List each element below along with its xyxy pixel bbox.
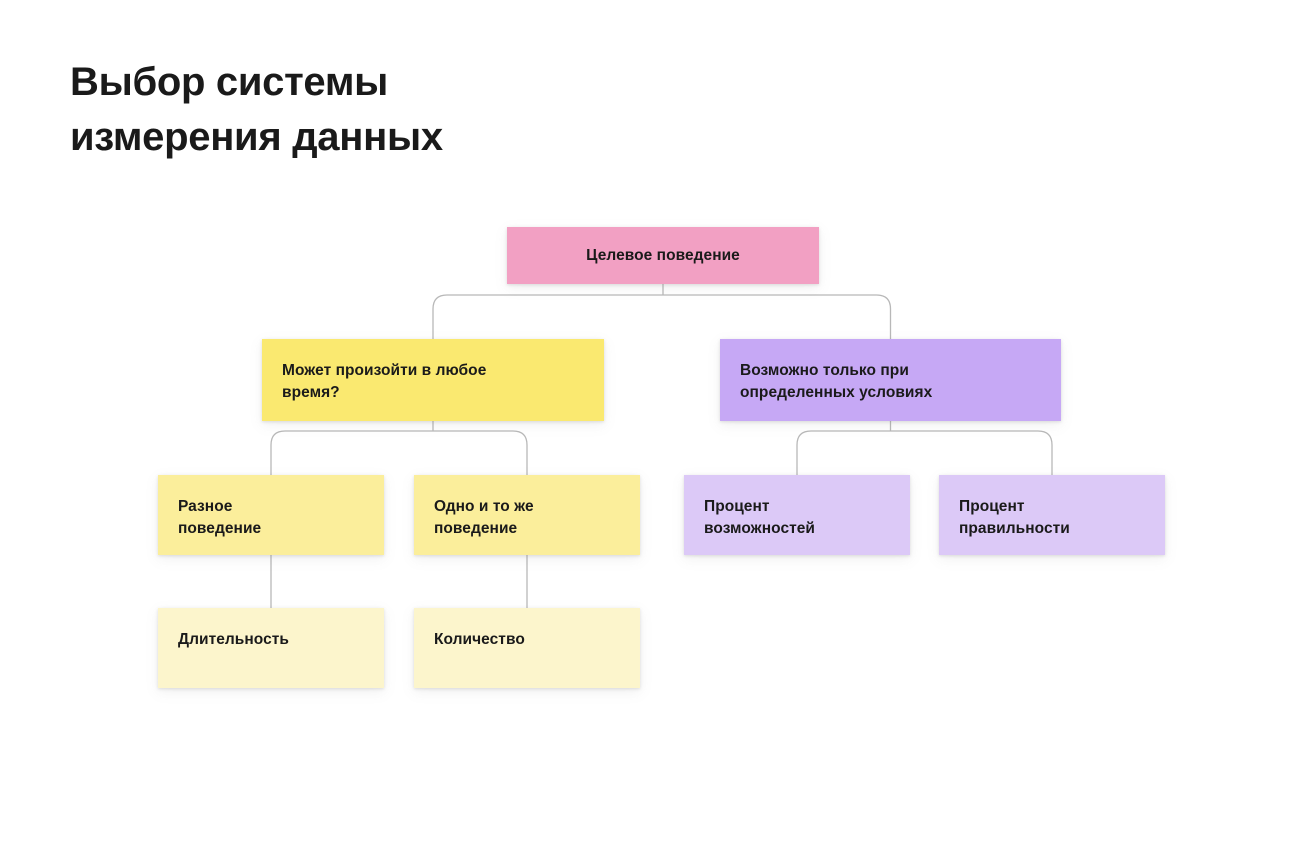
node-label: Одно и то же поведение [434, 496, 534, 540]
node-root[interactable]: Целевое поведение [507, 227, 819, 284]
connector-c-anytime-split [271, 421, 527, 475]
page-title: Выбор системы измерения данных [70, 55, 710, 165]
node-label: Разное поведение [178, 496, 261, 540]
node-label: Количество [434, 629, 525, 651]
node-n-same-behavior[interactable]: Одно и то же поведение [414, 475, 640, 555]
node-n-conditions[interactable]: Возможно только при определенных условия… [720, 339, 1061, 421]
node-n-percent-opportunities[interactable]: Процент возможностей [684, 475, 910, 555]
node-label: Возможно только при определенных условия… [740, 360, 932, 404]
node-label: Длительность [178, 629, 289, 651]
node-n-duration[interactable]: Длительность [158, 608, 384, 688]
diagram-canvas: Выбор системы измерения данных Целевое п… [0, 0, 1290, 860]
node-label: Может произойти в любое время? [282, 360, 486, 404]
node-label: Целевое поведение [586, 245, 740, 267]
connector-c-conditions-split [797, 421, 1052, 475]
connector-c-root-split [433, 284, 891, 339]
node-n-anytime[interactable]: Может произойти в любое время? [262, 339, 604, 421]
node-label: Процент возможностей [704, 496, 815, 540]
node-label: Процент правильности [959, 496, 1070, 540]
node-n-percent-correct[interactable]: Процент правильности [939, 475, 1165, 555]
node-n-count[interactable]: Количество [414, 608, 640, 688]
node-n-different-behavior[interactable]: Разное поведение [158, 475, 384, 555]
